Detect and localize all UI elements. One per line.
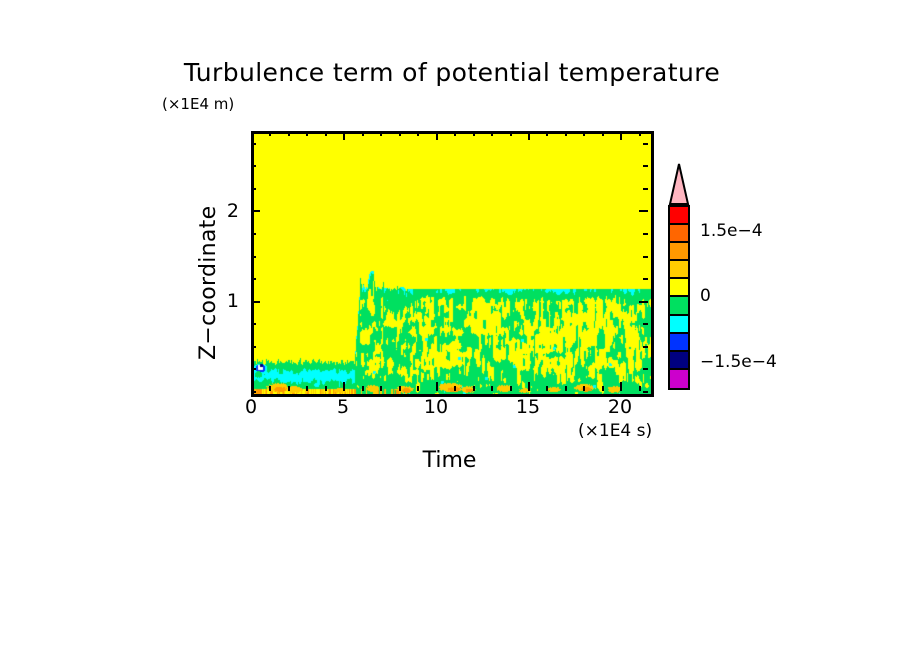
x-tick [639, 386, 641, 391]
x-tick [325, 386, 327, 391]
x-tick-top [602, 131, 604, 136]
x-tick-label: 20 [600, 396, 640, 418]
y-tick [251, 346, 256, 348]
colorbar-swatch-gold [670, 261, 688, 279]
y-tick [251, 278, 256, 280]
x-tick-top [417, 131, 419, 136]
x-tick-top [565, 131, 567, 136]
x-tick [251, 382, 253, 391]
colorbar-swatch-orange [670, 243, 688, 261]
y-tick-right [643, 346, 648, 348]
y-tick-right [643, 278, 648, 280]
y-tick [251, 301, 260, 303]
y-tick [251, 256, 256, 258]
y-axis-title-wrap: Z−coordinate [196, 170, 222, 360]
x-tick [380, 386, 382, 391]
figure-root: Turbulence term of potential temperature… [0, 0, 904, 654]
page-title: Turbulence term of potential temperature [0, 58, 904, 87]
x-tick [362, 386, 364, 391]
y-tick [251, 323, 256, 325]
y-tick-right [643, 165, 648, 167]
colorbar [668, 163, 690, 391]
x-tick [491, 386, 493, 391]
x-tick [528, 382, 530, 391]
y-tick [251, 391, 256, 393]
y-tick [251, 210, 260, 212]
x-tick-top [436, 131, 438, 140]
x-tick-label: 0 [231, 396, 271, 418]
y-tick-right [643, 233, 648, 235]
colorbar-swatch-navy [670, 352, 688, 370]
y-tick [251, 368, 256, 370]
colorbar-swatch-magenta [670, 370, 688, 388]
x-tick [473, 386, 475, 391]
y-tick [251, 165, 256, 167]
x-tick-top [528, 131, 530, 140]
x-tick [510, 386, 512, 391]
turbulence-heatmap-canvas [254, 134, 651, 394]
x-tick [454, 386, 456, 391]
y-tick-right [643, 143, 648, 145]
colorbar-label: −1.5e−4 [700, 352, 777, 372]
x-tick [269, 386, 271, 391]
x-tick-top [454, 131, 456, 136]
x-axis-title: Time [251, 448, 648, 473]
x-tick-top [251, 131, 253, 140]
y-axis-title: Z−coordinate [196, 206, 221, 360]
x-tick [306, 386, 308, 391]
colorbar-swatch-red [670, 207, 688, 225]
y-tick-right [639, 301, 648, 303]
colorbar-swatch-green [670, 297, 688, 315]
x-tick [583, 386, 585, 391]
x-tick-label: 15 [508, 396, 548, 418]
x-tick-top [343, 131, 345, 140]
x-tick [620, 382, 622, 391]
colorbar-swatch-blue [670, 334, 688, 352]
colorbar-label: 1.5e−4 [700, 221, 763, 241]
x-tick-top [362, 131, 364, 136]
colorbar-swatch-cyan [670, 316, 688, 334]
x-axis-unit-label: (×1E4 s) [578, 421, 652, 441]
y-tick-right [643, 391, 648, 393]
x-tick-top [510, 131, 512, 136]
y-tick-right [639, 210, 648, 212]
x-tick-top [306, 131, 308, 136]
x-tick-top [620, 131, 622, 140]
x-tick [546, 386, 548, 391]
x-tick-top [583, 131, 585, 136]
x-tick [417, 386, 419, 391]
x-tick-top [639, 131, 641, 136]
plot-area [251, 131, 654, 397]
x-tick-top [380, 131, 382, 136]
y-tick [251, 233, 256, 235]
x-tick [602, 386, 604, 391]
x-tick-label: 5 [323, 396, 363, 418]
x-tick-label: 10 [416, 396, 456, 418]
y-tick [251, 188, 256, 190]
x-tick [288, 386, 290, 391]
y-tick-right [643, 256, 648, 258]
y-tick-right [643, 323, 648, 325]
colorbar-swatches [668, 205, 690, 390]
colorbar-arrow-icon [668, 163, 690, 205]
x-tick-top [491, 131, 493, 136]
colorbar-swatch-orange-red [670, 225, 688, 243]
x-tick-top [546, 131, 548, 136]
y-tick [251, 143, 256, 145]
x-tick-top [325, 131, 327, 136]
x-tick-top [399, 131, 401, 136]
x-tick [436, 382, 438, 391]
x-tick-top [269, 131, 271, 136]
y-axis-unit-label: (×1E4 m) [162, 95, 234, 113]
x-tick [399, 386, 401, 391]
y-tick-right [643, 188, 648, 190]
colorbar-label: 0 [700, 286, 711, 306]
x-tick [343, 382, 345, 391]
y-tick-right [643, 368, 648, 370]
x-tick-top [288, 131, 290, 136]
x-tick-top [473, 131, 475, 136]
colorbar-swatch-yellow [670, 279, 688, 297]
x-tick [565, 386, 567, 391]
